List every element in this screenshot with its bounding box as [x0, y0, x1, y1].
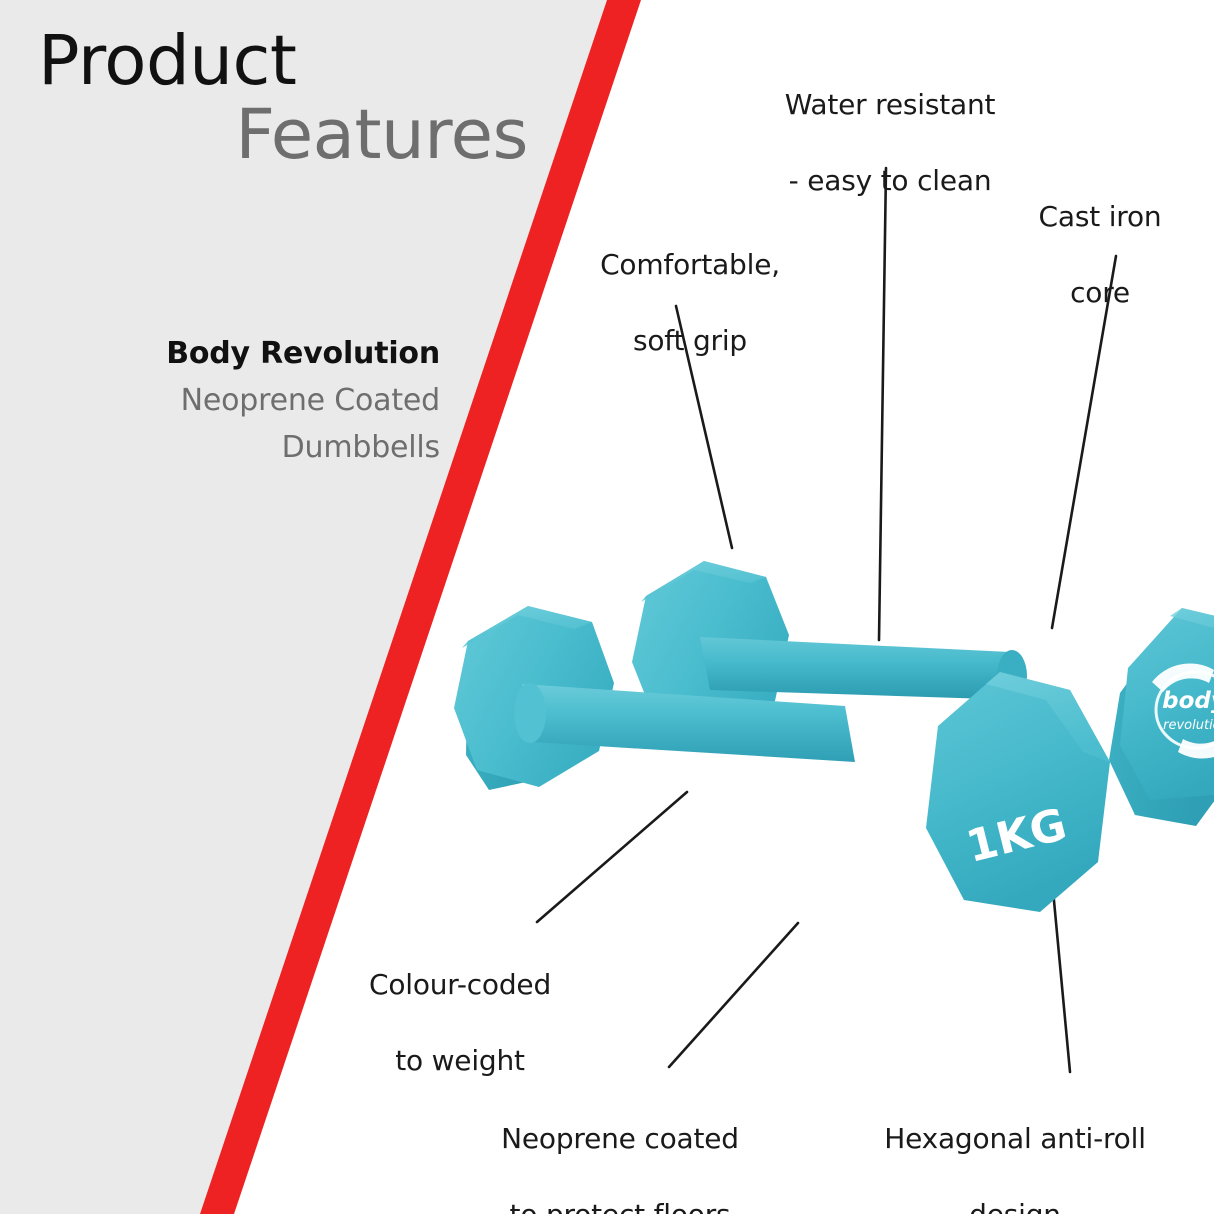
callout-cast-iron-core-line-1: Cast iron	[1000, 198, 1200, 236]
callout-cast-iron-core: Cast iron core	[1000, 160, 1200, 350]
product-name-line-2: Dumbbells	[60, 424, 440, 471]
callout-water-resistant-line-2: - easy to clean	[740, 162, 1040, 200]
product-brand: Body Revolution	[60, 330, 440, 377]
callout-comfortable-soft-grip-line-1: Comfortable,	[560, 246, 820, 284]
callout-neoprene-coated-line-2: to protect floors	[460, 1196, 780, 1214]
callout-hexagonal-anti-roll-line-1: Hexagonal anti-roll	[840, 1120, 1190, 1158]
callout-cast-iron-core-line-2: core	[1000, 274, 1200, 312]
callout-neoprene-coated-line-1: Neoprene coated	[460, 1120, 780, 1158]
callout-neoprene-coated-to-protect-floors: Neoprene coated to protect floors	[460, 1082, 780, 1214]
callout-comfortable-soft-grip-line-2: soft grip	[560, 322, 820, 360]
page-title-line-2: Features	[38, 98, 538, 172]
callout-water-resistant-line-1: Water resistant	[740, 86, 1040, 124]
callout-comfortable-soft-grip: Comfortable, soft grip	[560, 208, 820, 398]
product-features-infographic: Product Features Body Revolution Neopren…	[0, 0, 1214, 1214]
callout-colour-coded-to-weight-line-1: Colour-coded	[330, 966, 590, 1004]
product-name-line-1: Neoprene Coated	[60, 377, 440, 424]
page-title: Product Features	[38, 24, 538, 172]
callout-colour-coded-to-weight-line-2: to weight	[330, 1042, 590, 1080]
page-title-line-1: Product	[38, 24, 538, 98]
product-name-block: Body Revolution Neoprene Coated Dumbbell…	[60, 330, 440, 471]
callout-hexagonal-anti-roll-design: Hexagonal anti-roll design	[840, 1082, 1190, 1214]
callout-hexagonal-anti-roll-line-2: design	[840, 1196, 1190, 1214]
